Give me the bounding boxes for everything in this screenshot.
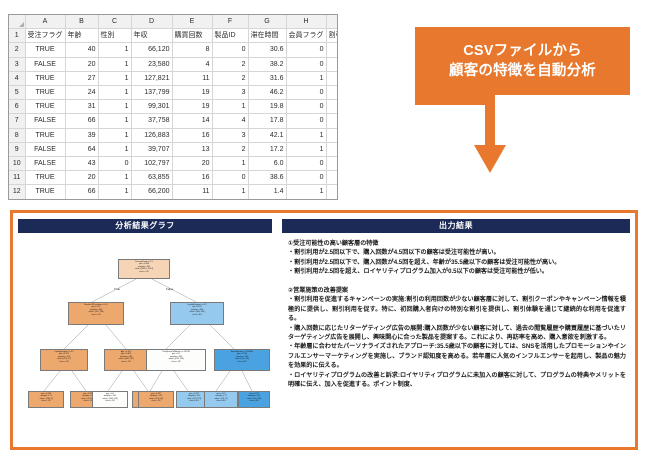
data-cell[interactable]: TRUE (25, 185, 65, 199)
data-cell[interactable]: 1 (212, 100, 248, 114)
output-paragraph (288, 277, 626, 286)
data-cell[interactable]: 17.8 (248, 114, 286, 128)
table-row: 10FALSE430102,7972016.003 (9, 157, 338, 171)
data-cell[interactable]: 4 (326, 128, 338, 142)
column-header-e[interactable]: E (172, 15, 212, 29)
data-cell[interactable]: 70 (65, 199, 98, 200)
column-header-a[interactable]: A (25, 15, 65, 29)
tree-node-l2b: Age <= 35.5gini = 0.403samples = 260valu… (104, 349, 148, 371)
data-cell[interactable]: 0 (286, 100, 326, 114)
data-cell[interactable]: 17.2 (248, 142, 286, 156)
tree-node-l2d: AnnualIncome <= 100306gini = 0.296sample… (214, 349, 270, 371)
data-cell[interactable]: 66 (65, 185, 98, 199)
row-header[interactable]: 5 (9, 86, 25, 100)
row-header[interactable]: 13 (9, 199, 25, 200)
data-cell[interactable]: 40 (65, 43, 98, 57)
row-header[interactable]: 12 (9, 185, 25, 199)
decision-tree-chart: True False DiscountUsed <= 2.5gini = 0.4… (18, 233, 272, 438)
data-cell[interactable]: 3 (326, 157, 338, 171)
data-cell[interactable]: 1 (98, 185, 131, 199)
callout-line-1: CSVファイルから (463, 41, 582, 61)
arrow-shaft (485, 95, 495, 147)
analysis-graph-pane: 分析結果グラフ (13, 213, 277, 447)
data-cell[interactable]: 19 (172, 86, 212, 100)
row-header[interactable]: 7 (9, 114, 25, 128)
table-row: 3FALSE20123,5804238.205 (9, 57, 338, 71)
output-result-pane: 出力結果 ①受注可能性の高い顧客層の特徴・割引利用が2.5回以下で、購入回数が4… (277, 213, 635, 447)
table-row: 7FALSE66137,75814417.802 (9, 114, 338, 128)
data-cell[interactable]: 2 (326, 114, 338, 128)
tree-node-root: DiscountUsed <= 2.5gini = 0.480samples =… (118, 259, 170, 279)
data-cell[interactable]: 2 (212, 142, 248, 156)
data-cell[interactable]: 5 (326, 43, 338, 57)
data-cell[interactable]: 137,799 (131, 86, 172, 100)
header-cell[interactable]: 滞在時間 (248, 29, 286, 43)
data-cell[interactable]: 3 (212, 128, 248, 142)
data-cell[interactable]: TRUE (25, 86, 65, 100)
header-cell[interactable]: 性別 (98, 29, 131, 43)
data-cell[interactable]: 83,557 (131, 199, 172, 200)
data-cell[interactable]: 5 (326, 171, 338, 185)
data-cell[interactable]: 0 (98, 157, 131, 171)
spreadsheet-panel[interactable]: ABCDEFGHI1受注フラグ年齢性別年収購買回数製品ID滞在時間会員フラグ割引… (8, 14, 338, 200)
data-cell[interactable]: 0 (326, 71, 338, 85)
data-cell[interactable]: 126,883 (131, 128, 172, 142)
results-panel: 分析結果グラフ (10, 210, 638, 450)
data-cell[interactable]: 1 (98, 114, 131, 128)
edge-label-false: False (166, 287, 173, 291)
data-cell[interactable]: TRUE (25, 128, 65, 142)
data-cell[interactable]: 42.1 (248, 128, 286, 142)
data-cell[interactable]: 4 (172, 57, 212, 71)
row-header[interactable]: 10 (9, 157, 25, 171)
column-header-h[interactable]: H (286, 15, 326, 29)
table-row: 4TRUE271127,82111231.610 (9, 71, 338, 85)
data-cell[interactable]: 20 (65, 171, 98, 185)
data-cell[interactable]: 27 (65, 71, 98, 85)
header-cell[interactable]: 受注フラグ (25, 29, 65, 43)
data-cell[interactable]: TRUE (25, 43, 65, 57)
data-cell[interactable]: 1 (98, 171, 131, 185)
data-cell[interactable]: 16 (172, 171, 212, 185)
data-cell[interactable]: 1 (286, 128, 326, 142)
data-cell[interactable]: 1 (98, 100, 131, 114)
tree-node-lf3: gini = 0.5samples = 131value = [166, 159… (92, 391, 128, 408)
data-cell[interactable]: 43 (65, 157, 98, 171)
row-header[interactable]: 3 (9, 57, 25, 71)
data-cell[interactable]: FALSE (25, 157, 65, 171)
data-cell[interactable]: 42.2 (248, 199, 286, 200)
screenshot-root: ABCDEFGHI1受注フラグ年齢性別年収購買回数製品ID滞在時間会員フラグ割引… (0, 0, 650, 460)
output-paragraph: ・割引利用を促進するキャンペーンの実施:割引の利用回数が少ない顧客層に対して、割… (288, 295, 626, 323)
data-cell[interactable]: 99,301 (131, 100, 172, 114)
data-cell[interactable]: 0 (286, 43, 326, 57)
row-header[interactable]: 9 (9, 142, 25, 156)
data-cell[interactable]: 5 (326, 57, 338, 71)
data-cell[interactable]: TRUE (25, 71, 65, 85)
analysis-graph-title: 分析結果グラフ (18, 219, 272, 233)
data-cell[interactable]: 127,821 (131, 71, 172, 85)
data-cell[interactable]: 8 (172, 43, 212, 57)
data-cell[interactable]: 1 (98, 128, 131, 142)
header-cell[interactable]: 割引回数 (326, 29, 338, 43)
data-cell[interactable]: 0 (286, 171, 326, 185)
data-cell[interactable]: 13 (172, 142, 212, 156)
table-row: 1受注フラグ年齢性別年収購買回数製品ID滞在時間会員フラグ割引回数 (9, 29, 338, 43)
data-cell[interactable]: 66,200 (131, 185, 172, 199)
column-header-f[interactable]: F (212, 15, 248, 29)
data-cell[interactable]: 46.2 (248, 86, 286, 100)
tree-node-lf7: gini = 0.43samples = 17value = [20, 11]c… (204, 391, 238, 408)
data-cell[interactable]: 3 (212, 86, 248, 100)
output-result-title: 出力結果 (282, 219, 630, 233)
arrow-down-icon (474, 145, 506, 173)
data-cell[interactable]: 1.4 (248, 185, 286, 199)
data-cell[interactable]: 1 (212, 185, 248, 199)
data-cell[interactable]: 20 (65, 57, 98, 71)
data-cell[interactable]: 2 (212, 71, 248, 85)
data-cell[interactable]: 24 (65, 86, 98, 100)
table-row: 8TRUE391126,88316342.114 (9, 128, 338, 142)
column-header-row: ABCDEFGHI (9, 15, 338, 29)
data-cell[interactable]: 19 (172, 100, 212, 114)
data-cell[interactable]: 2 (212, 57, 248, 71)
data-cell[interactable]: 0 (286, 86, 326, 100)
table-row: 11TRUE20163,85516038.605 (9, 171, 338, 185)
table-row: 6TRUE31199,30119119.800 (9, 100, 338, 114)
spreadsheet-table[interactable]: ABCDEFGHI1受注フラグ年齢性別年収購買回数製品ID滞在時間会員フラグ割引… (9, 15, 338, 200)
data-cell[interactable]: 1 (98, 142, 131, 156)
header-cell[interactable]: 会員フラグ (286, 29, 326, 43)
data-cell[interactable]: 14 (172, 114, 212, 128)
edge-label-true: True (114, 287, 120, 291)
data-cell[interactable]: 63,855 (131, 171, 172, 185)
data-cell[interactable]: 4 (326, 199, 338, 200)
csv-callout-banner: CSVファイルから 顧客の特徴を自動分析 (415, 27, 630, 95)
data-cell[interactable]: 102,797 (131, 157, 172, 171)
header-cell[interactable]: 製品ID (212, 29, 248, 43)
output-paragraph: ・割引利用が2.5回以下で、購入回数が4.5回を超え、年齢が35.5歳以下の顧客… (288, 258, 626, 267)
tree-node-lf8: gini = 0.20samples = 152value = [26, 234… (238, 391, 270, 408)
data-cell[interactable]: 1 (98, 71, 131, 85)
row-header[interactable]: 8 (9, 128, 25, 142)
header-cell[interactable]: 購買回数 (172, 29, 212, 43)
data-cell[interactable]: 1 (98, 86, 131, 100)
data-cell[interactable]: FALSE (25, 114, 65, 128)
arrow-elbow-horizontal (415, 95, 495, 105)
data-cell[interactable]: 11 (172, 199, 212, 200)
column-header-i[interactable]: I (326, 15, 338, 29)
data-cell[interactable]: 0 (286, 114, 326, 128)
data-cell[interactable]: 19.8 (248, 100, 286, 114)
row-header[interactable]: 4 (9, 71, 25, 85)
data-cell[interactable]: 37,758 (131, 114, 172, 128)
data-cell[interactable]: 11 (172, 71, 212, 85)
tree-node-l1b: LoyaltyProgram <= 0.5gini = 0.40samples … (170, 302, 224, 325)
row-header[interactable]: 2 (9, 43, 25, 57)
data-cell[interactable]: 66 (65, 114, 98, 128)
data-cell[interactable]: 16 (172, 128, 212, 142)
column-header-d[interactable]: D (131, 15, 172, 29)
table-row: 2TRUE40166,1208030.605 (9, 43, 338, 57)
row-header[interactable]: 6 (9, 100, 25, 114)
data-cell[interactable]: 1 (212, 157, 248, 171)
column-header-b[interactable]: B (65, 15, 98, 29)
data-cell[interactable]: TRUE (25, 100, 65, 114)
data-cell[interactable]: 0 (286, 57, 326, 71)
header-cell[interactable]: 年収 (131, 29, 172, 43)
data-cell[interactable]: 0 (212, 43, 248, 57)
table-row: 13TRUE70183,55711242.204 (9, 199, 338, 200)
data-cell[interactable]: 1 (98, 43, 131, 57)
output-paragraph: ・ロイヤリティプログラムの改善と訴求:ロイヤリティプログラムに未加入の顧客に対し… (288, 371, 626, 390)
header-cell[interactable]: 年齢 (65, 29, 98, 43)
output-paragraph: ①受注可能性の高い顧客層の特徴 (288, 239, 626, 248)
data-cell[interactable]: 31.6 (248, 71, 286, 85)
column-header-c[interactable]: C (98, 15, 131, 29)
data-cell[interactable]: 20 (172, 157, 212, 171)
tree-node-lf1: gini = 0.240samples = 71value = [134, 6]… (28, 391, 64, 408)
output-paragraph: ・割引利用が2.5回以下で、購入回数が4.5回以下の顧客は受注可能性が高い。 (288, 248, 626, 257)
row-header[interactable]: 11 (9, 171, 25, 185)
tree-node-lf5: gini = 0.367samples = 153value = [194, 6… (138, 391, 174, 408)
tree-node-l1a: NumberOfPurchases <= 4.5gini = 0.37sampl… (68, 302, 124, 325)
data-cell[interactable]: 39,707 (131, 142, 172, 156)
data-cell[interactable]: 64 (65, 142, 98, 156)
data-cell[interactable]: TRUE (25, 171, 65, 185)
data-cell[interactable]: 38.6 (248, 171, 286, 185)
data-cell[interactable]: 1 (286, 142, 326, 156)
data-cell[interactable]: 0 (326, 142, 338, 156)
data-cell[interactable]: 4 (326, 86, 338, 100)
data-cell[interactable]: FALSE (25, 142, 65, 156)
data-cell[interactable]: 1 (98, 57, 131, 71)
callout-line-2: 顧客の特徴を自動分析 (449, 61, 596, 81)
data-cell[interactable]: 5 (326, 185, 338, 199)
table-row: 9FALSE64139,70713217.210 (9, 142, 338, 156)
data-cell[interactable]: 11 (172, 185, 212, 199)
select-all-corner[interactable] (9, 15, 25, 29)
output-paragraph: ②営業施策の改善提案 (288, 286, 626, 295)
table-row: 5TRUE241137,79919346.204 (9, 86, 338, 100)
output-paragraph: ・割引利用が2.5回を超え、ロイヤリティプログラム加入が0.5以下の顧客は受注可… (288, 267, 626, 276)
data-cell[interactable]: 1 (286, 185, 326, 199)
data-cell[interactable]: 30.6 (248, 43, 286, 57)
data-cell[interactable]: 31 (65, 100, 98, 114)
data-cell[interactable]: 0 (286, 157, 326, 171)
data-cell[interactable]: 0 (326, 100, 338, 114)
column-header-g[interactable]: G (248, 15, 286, 29)
tree-node-l2a: LoyaltyProgram <= 0.5gini = 0.375samples… (40, 349, 88, 371)
data-cell[interactable]: 66,120 (131, 43, 172, 57)
table-row: 12TRUE66166,2001111.415 (9, 185, 338, 199)
tree-node-l2c: TimeSpentOnWebsite <= 19.833gini = 0.5sa… (146, 349, 206, 371)
data-cell[interactable]: FALSE (25, 57, 65, 71)
data-cell[interactable]: 0 (286, 199, 326, 200)
output-paragraph: ・年齢層に合わせたパーソナライズされたアプローチ:35.5歳以下の顧客に対しては… (288, 342, 626, 370)
data-cell[interactable]: 6.0 (248, 157, 286, 171)
data-cell[interactable]: 38.2 (248, 57, 286, 71)
data-cell[interactable]: TRUE (25, 199, 65, 200)
data-cell[interactable]: 23,580 (131, 57, 172, 71)
data-cell[interactable]: 4 (212, 114, 248, 128)
data-cell[interactable]: 2 (212, 199, 248, 200)
data-cell[interactable]: 39 (65, 128, 98, 142)
data-cell[interactable]: 1 (98, 199, 131, 200)
data-cell[interactable]: 0 (212, 171, 248, 185)
data-cell[interactable]: 1 (286, 71, 326, 85)
row-header[interactable]: 1 (9, 29, 25, 43)
output-result-text: ①受注可能性の高い顧客層の特徴・割引利用が2.5回以下で、購入回数が4.5回以下… (282, 239, 630, 435)
output-paragraph: ・購入回数に応じたリターゲティング広告の展開:購入回数が少ない顧客に対して、過去… (288, 324, 626, 343)
